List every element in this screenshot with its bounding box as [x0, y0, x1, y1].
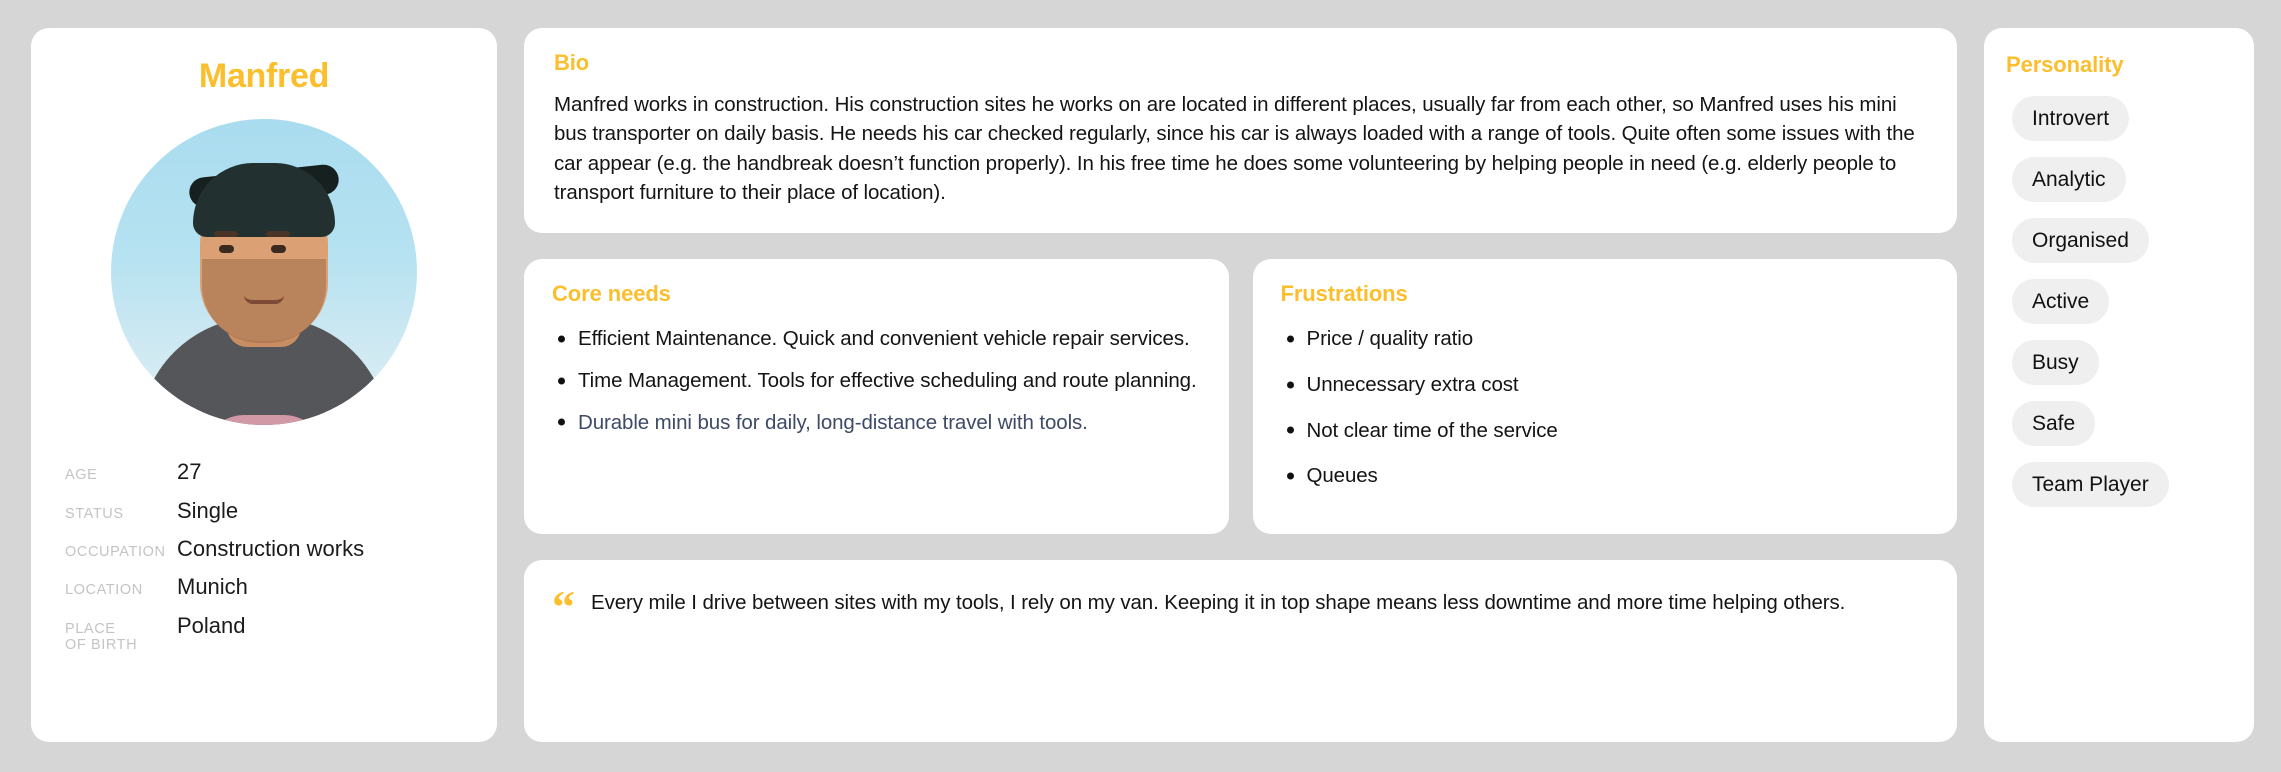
list-item: Price / quality ratio: [1307, 325, 1930, 353]
detail-label: OCCUPATION: [65, 544, 177, 560]
list-item: Queues: [1307, 462, 1930, 490]
personality-title: Personality: [2006, 52, 2232, 78]
detail-row-occupation: OCCUPATION Construction works: [65, 536, 463, 561]
list-item: Efficient Maintenance. Quick and conveni…: [578, 325, 1201, 353]
detail-row-age: AGE 27: [65, 459, 463, 484]
avatar-eyebrow-right: [266, 231, 290, 237]
personality-tag-organised[interactable]: Organised: [2012, 218, 2149, 263]
personality-tag-safe[interactable]: Safe: [2012, 401, 2095, 446]
avatar-eyebrow-left: [214, 231, 238, 237]
personality-tag-introvert[interactable]: Introvert: [2012, 96, 2129, 141]
core-needs-card: Core needs Efficient Maintenance. Quick …: [524, 259, 1229, 534]
personality-tag-busy[interactable]: Busy: [2012, 340, 2099, 385]
list-item: Durable mini bus for daily, long-distanc…: [578, 409, 1201, 437]
detail-value: 27: [177, 459, 201, 484]
list-item: Time Management. Tools for effective sch…: [578, 367, 1201, 395]
core-needs-title: Core needs: [552, 281, 1201, 307]
personality-tag-analytic[interactable]: Analytic: [2012, 157, 2126, 202]
list-item: Not clear time of the service: [1307, 417, 1930, 445]
detail-row-status: STATUS Single: [65, 498, 463, 523]
avatar-eye-left: [219, 245, 234, 253]
avatar-mouth: [244, 295, 284, 304]
frustrations-list: Price / quality ratio Unnecessary extra …: [1281, 325, 1930, 490]
personality-card: Personality Introvert Analytic Organised…: [1984, 28, 2254, 742]
frustrations-title: Frustrations: [1281, 281, 1930, 307]
profile-details: AGE 27 STATUS Single OCCUPATION Construc…: [65, 459, 463, 653]
profile-card: Manfred AGE 27 STATUS Single: [31, 28, 497, 742]
persona-board: Manfred AGE 27 STATUS Single: [0, 0, 2281, 772]
needs-frustrations-row: Core needs Efficient Maintenance. Quick …: [524, 259, 1957, 534]
middle-column: Bio Manfred works in construction. His c…: [524, 28, 1957, 742]
detail-value: Construction works: [177, 536, 364, 561]
personality-tag-active[interactable]: Active: [2012, 279, 2109, 324]
page-title: Manfred: [199, 58, 329, 95]
detail-row-location: LOCATION Munich: [65, 574, 463, 599]
bio-text: Manfred works in construction. His const…: [554, 90, 1927, 207]
detail-label: LOCATION: [65, 582, 177, 598]
quote-icon: “: [552, 590, 575, 623]
detail-value: Munich: [177, 574, 248, 599]
core-needs-list: Efficient Maintenance. Quick and conveni…: [552, 325, 1201, 436]
frustrations-card: Frustrations Price / quality ratio Unnec…: [1253, 259, 1958, 534]
detail-label: STATUS: [65, 506, 177, 522]
quote-text: Every mile I drive between sites with my…: [591, 586, 1845, 618]
personality-tag-list: Introvert Analytic Organised Active Busy…: [2006, 96, 2232, 507]
detail-row-place-of-birth: PLACE OF BIRTH Poland: [65, 613, 463, 653]
list-item: Unnecessary extra cost: [1307, 371, 1930, 399]
bio-title: Bio: [554, 50, 1927, 76]
detail-value: Single: [177, 498, 238, 523]
avatar: [111, 119, 417, 425]
avatar-eye-right: [271, 245, 286, 253]
bio-card: Bio Manfred works in construction. His c…: [524, 28, 1957, 233]
personality-tag-team-player[interactable]: Team Player: [2012, 462, 2169, 507]
detail-value: Poland: [177, 613, 246, 638]
detail-label: AGE: [65, 467, 177, 483]
quote-card: “ Every mile I drive between sites with …: [524, 560, 1957, 742]
detail-label: PLACE OF BIRTH: [65, 621, 177, 653]
